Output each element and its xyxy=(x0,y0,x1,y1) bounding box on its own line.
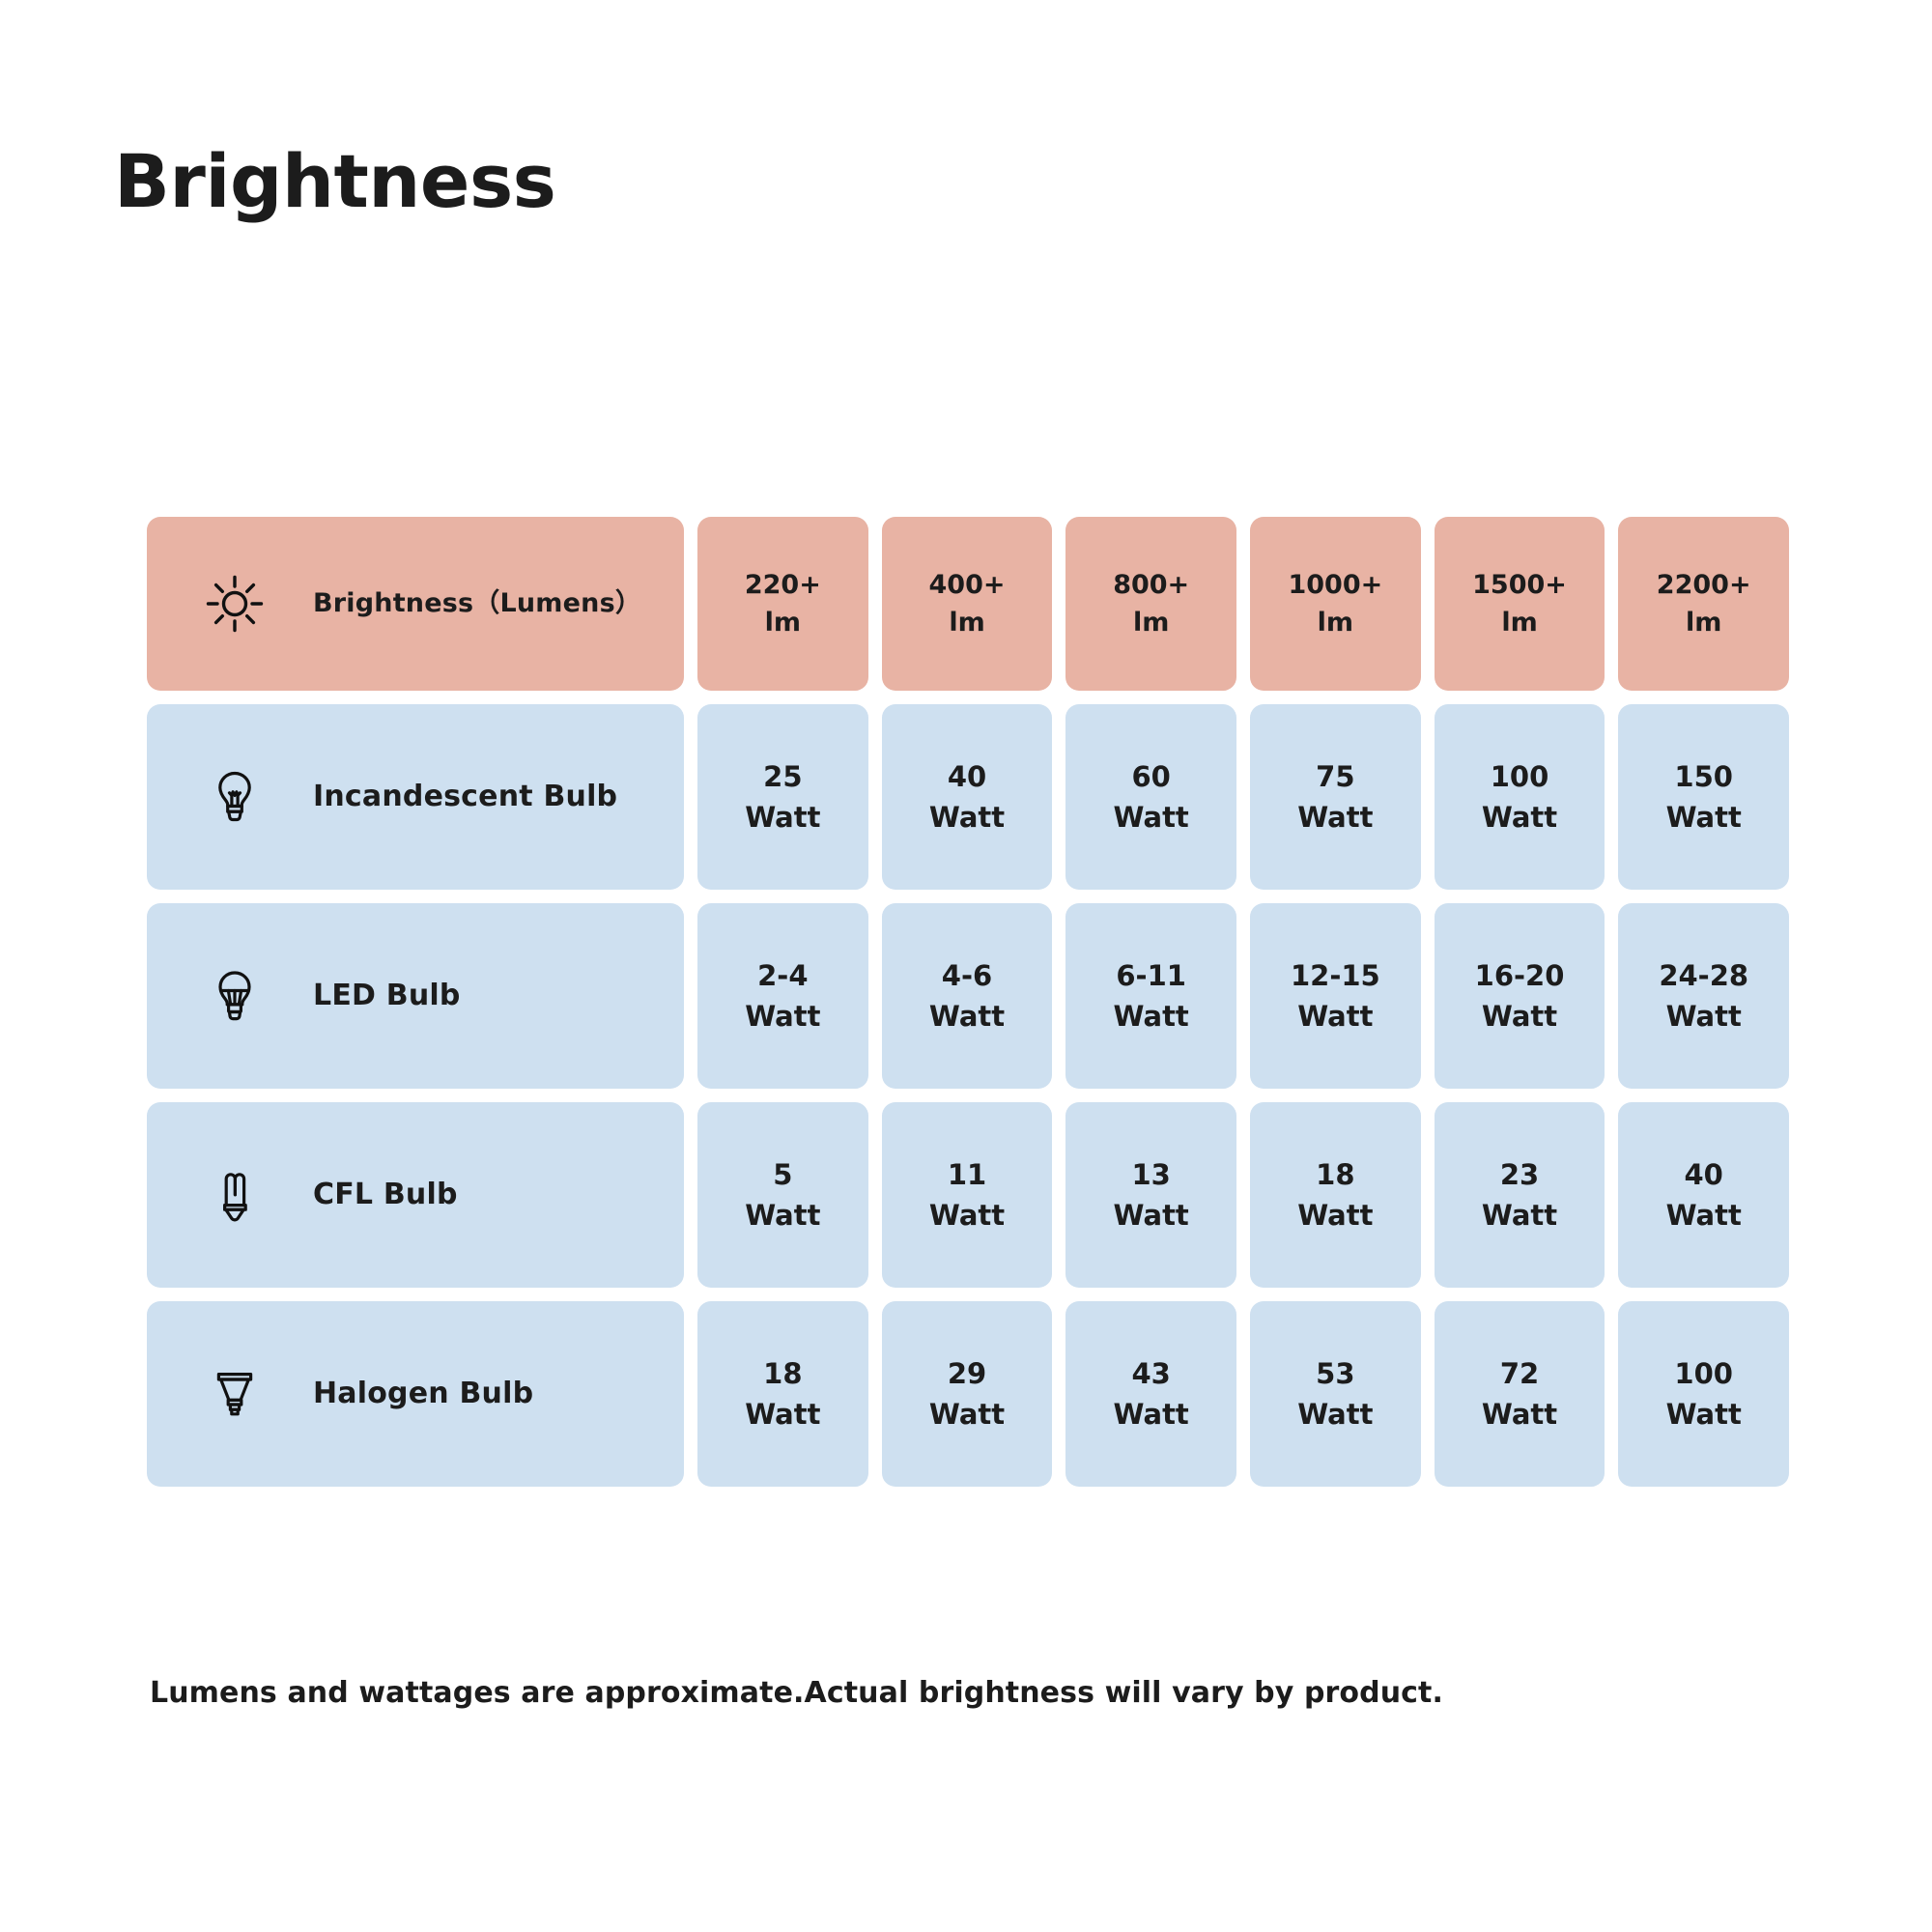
watt-unit: Watt xyxy=(1114,1394,1189,1435)
data-cell: 100 Watt xyxy=(1618,1301,1789,1487)
watt-unit: Watt xyxy=(1297,797,1373,838)
watt-value: 72 xyxy=(1482,1353,1557,1394)
row-label-cell-led: LED Bulb xyxy=(147,903,684,1089)
data-cell: 18 Watt xyxy=(1250,1102,1421,1288)
watt-value: 60 xyxy=(1114,756,1189,797)
watt-unit: Watt xyxy=(1666,797,1742,838)
watt-value: 40 xyxy=(929,756,1005,797)
watt-unit: Watt xyxy=(1659,996,1748,1037)
header-column-5: 1500+ lm xyxy=(1435,517,1605,691)
watt-unit: Watt xyxy=(1482,1394,1557,1435)
watt-value: 6-11 xyxy=(1114,955,1189,996)
header-lumens-value: 1500+ xyxy=(1472,566,1567,604)
header-lumens-value: 1000+ xyxy=(1288,566,1382,604)
data-cell: 16-20 Watt xyxy=(1435,903,1605,1089)
data-cell: 18 Watt xyxy=(697,1301,868,1487)
row-label-cell-halogen: Halogen Bulb xyxy=(147,1301,684,1487)
header-column-1: 220+ lm xyxy=(697,517,868,691)
header-column-2: 400+ lm xyxy=(882,517,1053,691)
row-label-cell-cfl: CFL Bulb xyxy=(147,1102,684,1288)
watt-value: 24-28 xyxy=(1659,955,1748,996)
watt-value: 43 xyxy=(1114,1353,1189,1394)
table-row: CFL Bulb 5 Watt 11 Watt 13 Watt xyxy=(147,1102,1789,1288)
data-cell: 5 Watt xyxy=(697,1102,868,1288)
watt-unit: Watt xyxy=(745,1195,820,1236)
watt-unit: Watt xyxy=(1114,1195,1189,1236)
header-lumens-unit: lm xyxy=(929,604,1006,641)
watt-unit: Watt xyxy=(745,797,820,838)
data-cell: 29 Watt xyxy=(882,1301,1053,1487)
row-label: Incandescent Bulb xyxy=(313,779,617,815)
data-cell: 2-4 Watt xyxy=(697,903,868,1089)
watt-unit: Watt xyxy=(745,996,820,1037)
data-cell: 60 Watt xyxy=(1065,704,1236,890)
header-column-4: 1000+ lm xyxy=(1250,517,1421,691)
sun-icon xyxy=(205,574,265,634)
watt-unit: Watt xyxy=(1114,996,1189,1037)
watt-unit: Watt xyxy=(1297,1195,1373,1236)
header-lumens-unit: lm xyxy=(1657,604,1751,641)
watt-value: 18 xyxy=(745,1353,820,1394)
watt-unit: Watt xyxy=(929,1394,1005,1435)
cfl-bulb-icon xyxy=(205,1165,265,1225)
header-lumens-value: 2200+ xyxy=(1657,566,1751,604)
header-lumens-unit: lm xyxy=(745,604,821,641)
data-cell: 75 Watt xyxy=(1250,704,1421,890)
watt-unit: Watt xyxy=(929,1195,1005,1236)
watt-unit: Watt xyxy=(1482,797,1557,838)
header-label: Brightness（Lumens） xyxy=(313,587,641,621)
data-cell: 100 Watt xyxy=(1435,704,1605,890)
incandescent-bulb-icon xyxy=(205,767,265,827)
row-label: CFL Bulb xyxy=(313,1177,458,1213)
watt-value: 18 xyxy=(1297,1154,1373,1195)
watt-unit: Watt xyxy=(929,996,1005,1037)
data-cell: 40 Watt xyxy=(882,704,1053,890)
data-cell: 53 Watt xyxy=(1250,1301,1421,1487)
data-cell: 12-15 Watt xyxy=(1250,903,1421,1089)
watt-value: 100 xyxy=(1482,756,1557,797)
row-label: Halogen Bulb xyxy=(313,1376,533,1412)
watt-value: 29 xyxy=(929,1353,1005,1394)
watt-value: 53 xyxy=(1297,1353,1373,1394)
watt-unit: Watt xyxy=(1666,1195,1742,1236)
data-cell: 24-28 Watt xyxy=(1618,903,1789,1089)
watt-unit: Watt xyxy=(745,1394,820,1435)
watt-value: 75 xyxy=(1297,756,1373,797)
header-lumens-value: 800+ xyxy=(1113,566,1189,604)
watt-value: 11 xyxy=(929,1154,1005,1195)
led-bulb-icon xyxy=(205,966,265,1026)
brightness-table: Brightness（Lumens） 220+ lm 400+ lm 800+ … xyxy=(147,517,1789,1487)
watt-value: 23 xyxy=(1482,1154,1557,1195)
table-header-row: Brightness（Lumens） 220+ lm 400+ lm 800+ … xyxy=(147,517,1789,691)
data-cell: 43 Watt xyxy=(1065,1301,1236,1487)
watt-value: 5 xyxy=(745,1154,820,1195)
page-title: Brightness xyxy=(114,145,555,218)
header-column-3: 800+ lm xyxy=(1065,517,1236,691)
data-cell: 6-11 Watt xyxy=(1065,903,1236,1089)
watt-value: 4-6 xyxy=(929,955,1005,996)
halogen-bulb-icon xyxy=(205,1364,265,1424)
brightness-comparison-page: Brightness Br xyxy=(0,0,1932,1932)
watt-value: 40 xyxy=(1666,1154,1742,1195)
data-cell: 25 Watt xyxy=(697,704,868,890)
table-row: Halogen Bulb 18 Watt 29 Watt 43 Watt xyxy=(147,1301,1789,1487)
data-cell: 72 Watt xyxy=(1435,1301,1605,1487)
row-label: LED Bulb xyxy=(313,978,461,1014)
data-cell: 23 Watt xyxy=(1435,1102,1605,1288)
data-cell: 150 Watt xyxy=(1618,704,1789,890)
table-row: Incandescent Bulb 25 Watt 40 Watt 60 Wat… xyxy=(147,704,1789,890)
watt-value: 16-20 xyxy=(1475,955,1565,996)
footnote: Lumens and wattages are approximate.Actu… xyxy=(150,1676,1443,1710)
header-lumens-value: 220+ xyxy=(745,566,821,604)
watt-unit: Watt xyxy=(1114,797,1189,838)
watt-value: 100 xyxy=(1666,1353,1742,1394)
watt-unit: Watt xyxy=(1475,996,1565,1037)
watt-unit: Watt xyxy=(929,797,1005,838)
watt-unit: Watt xyxy=(1482,1195,1557,1236)
watt-value: 2-4 xyxy=(745,955,820,996)
data-cell: 13 Watt xyxy=(1065,1102,1236,1288)
watt-value: 150 xyxy=(1666,756,1742,797)
watt-unit: Watt xyxy=(1291,996,1380,1037)
watt-unit: Watt xyxy=(1666,1394,1742,1435)
watt-value: 25 xyxy=(745,756,820,797)
header-lumens-value: 400+ xyxy=(929,566,1006,604)
watt-value: 13 xyxy=(1114,1154,1189,1195)
header-column-6: 2200+ lm xyxy=(1618,517,1789,691)
data-cell: 4-6 Watt xyxy=(882,903,1053,1089)
header-label-cell: Brightness（Lumens） xyxy=(147,517,684,691)
watt-unit: Watt xyxy=(1297,1394,1373,1435)
data-cell: 11 Watt xyxy=(882,1102,1053,1288)
data-cell: 40 Watt xyxy=(1618,1102,1789,1288)
watt-value: 12-15 xyxy=(1291,955,1380,996)
header-lumens-unit: lm xyxy=(1288,604,1382,641)
header-lumens-unit: lm xyxy=(1472,604,1567,641)
row-label-cell-incandescent: Incandescent Bulb xyxy=(147,704,684,890)
table-row: LED Bulb 2-4 Watt 4-6 Watt 6-11 Watt xyxy=(147,903,1789,1089)
header-lumens-unit: lm xyxy=(1113,604,1189,641)
